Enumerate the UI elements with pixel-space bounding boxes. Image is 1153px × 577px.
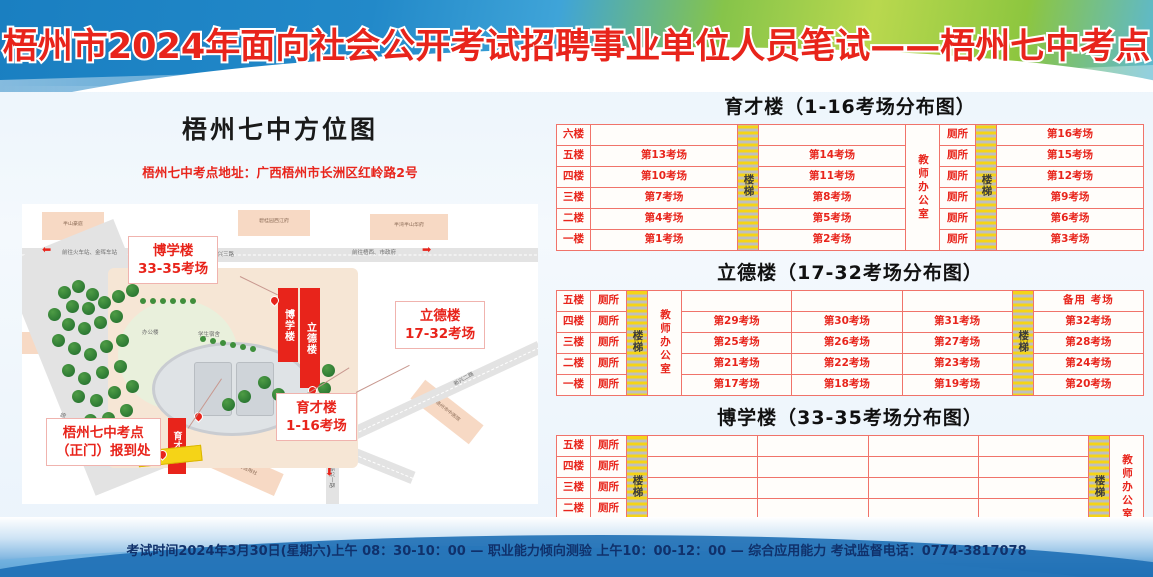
table-row: 三楼 第7考场 第8考场 厕所 第9考场 <box>557 188 1144 209</box>
teacher-office-cell: 教师办公室 <box>906 125 940 251</box>
floor-cell: 四楼 <box>557 312 591 333</box>
page-title: 梧州市2024年面向社会公开考试招聘事业单位人员笔试——梧州七中考点 <box>0 18 1153 69</box>
floor-cell: 五楼 <box>557 146 591 167</box>
room-cell <box>758 457 868 478</box>
room-cell: 第9考场 <box>997 188 1144 209</box>
room-cell <box>978 457 1088 478</box>
teacher-office-cell: 教师办公室 <box>648 291 682 396</box>
stair-cell-right: 楼梯 <box>1012 291 1033 396</box>
floor-cell: 四楼 <box>557 167 591 188</box>
stair-label: 楼梯 <box>1017 330 1028 353</box>
floor-cell: 三楼 <box>557 478 591 499</box>
room-cell: 第16考场 <box>997 125 1144 146</box>
table-row: 六楼 楼梯 教师办公室 厕所 楼梯 第16考场 <box>557 125 1144 146</box>
arrow-down-icon: ➡ <box>324 467 335 476</box>
stair-label: 楼梯 <box>631 475 642 498</box>
toilet-cell: 厕所 <box>940 167 976 188</box>
room-cell <box>648 436 758 457</box>
room-cell: 第24考场 <box>1033 354 1143 375</box>
callout-line1: 立德楼 <box>405 307 475 325</box>
room-cell: 第11考场 <box>759 167 906 188</box>
toilet-cell: 厕所 <box>591 312 627 333</box>
table-row: 五楼 厕所 楼梯 教师办公室 楼梯 备用 考场 <box>557 291 1144 312</box>
room-cell <box>759 125 906 146</box>
stair-cell-left: 楼梯 <box>627 291 648 396</box>
room-cell: 第23考场 <box>902 354 1012 375</box>
stair-label: 楼梯 <box>980 174 991 197</box>
toilet-cell: 厕所 <box>591 354 627 375</box>
direction-label-west: 前往火车站、金晖车站 <box>62 248 117 256</box>
room-cell <box>591 125 738 146</box>
room-cell: 第15考场 <box>997 146 1144 167</box>
callout-line1: 博学楼 <box>138 242 208 260</box>
floor-cell: 三楼 <box>557 333 591 354</box>
callout-line2: 1-16考场 <box>286 417 347 435</box>
floor-cell: 四楼 <box>557 457 591 478</box>
room-cell: 第20考场 <box>1033 375 1143 396</box>
callout-line1: 梧州七中考点 <box>56 424 151 442</box>
poi-label-office: 办公楼 <box>142 328 159 336</box>
floor-cell: 三楼 <box>557 188 591 209</box>
map-heading: 梧州七中方位图 <box>18 110 542 146</box>
footer-exam-info: 考试时间2024年3月30日(星期六)上午 08：30-10：00 — 职业能力… <box>0 540 1153 559</box>
floor-cell: 二楼 <box>557 354 591 375</box>
map-address: 梧州七中考点地址：广西梧州市长洲区红岭路2号 <box>18 162 542 181</box>
room-cell: 第32考场 <box>1033 312 1143 333</box>
room-cell <box>978 436 1088 457</box>
room-cell <box>682 291 792 312</box>
callout-gate[interactable]: 梧州七中考点 （正门）报到处 <box>46 418 161 466</box>
room-cell: 第19考场 <box>902 375 1012 396</box>
room-cell: 第27考场 <box>902 333 1012 354</box>
table-row: 二楼 第4考场 第5考场 厕所 第6考场 <box>557 209 1144 230</box>
room-cell: 第6考场 <box>997 209 1144 230</box>
table-row: 四楼 第10考场 第11考场 厕所 第12考场 <box>557 167 1144 188</box>
room-cell: 第22考场 <box>792 354 902 375</box>
yucai-building-table: 六楼 楼梯 教师办公室 厕所 楼梯 第16考场 五楼 第13考场 第14考场 厕… <box>556 124 1144 251</box>
callout-line2: 33-35考场 <box>138 260 208 278</box>
table-row: 五楼 厕所 楼梯 楼梯 教师办公室 <box>557 436 1144 457</box>
toilet-cell: 厕所 <box>940 188 976 209</box>
floor-cell: 五楼 <box>557 436 591 457</box>
room-cell: 第1考场 <box>591 230 738 251</box>
building-lide: 立德楼 <box>300 288 320 388</box>
stair-label: 楼梯 <box>1093 475 1104 498</box>
floor-cell: 一楼 <box>557 230 591 251</box>
room-cell: 第13考场 <box>591 146 738 167</box>
room-cell: 第12考场 <box>997 167 1144 188</box>
toilet-cell: 厕所 <box>591 375 627 396</box>
callout-line1: 育才楼 <box>286 399 347 417</box>
room-cell <box>868 478 978 499</box>
poi-label: 半湾半山华府 <box>370 222 448 228</box>
lide-table-title: 立德楼（17-32考场分布图） <box>552 258 1148 285</box>
callout-yucai[interactable]: 育才楼 1-16考场 <box>276 393 357 441</box>
lide-building-section: 立德楼（17-32考场分布图） 五楼 厕所 楼梯 教师办公室 楼梯 备用 考场 <box>552 258 1148 396</box>
room-cell: 第21考场 <box>682 354 792 375</box>
room-cell <box>792 291 902 312</box>
callout-line2: 17-32考场 <box>405 325 475 343</box>
toilet-cell: 厕所 <box>591 436 627 457</box>
room-cell: 第29考场 <box>682 312 792 333</box>
seating-tables: 育才楼（1-16考场分布图） 六楼 楼梯 教师办公室 厕所 楼梯 第16考场 五… <box>552 92 1148 532</box>
room-cell: 第8考场 <box>759 188 906 209</box>
room-cell: 第28考场 <box>1033 333 1143 354</box>
toilet-cell: 厕所 <box>940 146 976 167</box>
room-cell: 第18考场 <box>792 375 902 396</box>
room-cell: 第30考场 <box>792 312 902 333</box>
toilet-cell: 厕所 <box>940 209 976 230</box>
arrow-right-icon: ➡ <box>422 244 431 255</box>
room-cell <box>978 478 1088 499</box>
direction-label-east: 前往梧西、市政府 <box>352 248 396 256</box>
callout-line2: （正门）报到处 <box>56 442 151 460</box>
room-cell <box>648 457 758 478</box>
lide-building-table: 五楼 厕所 楼梯 教师办公室 楼梯 备用 考场 四楼 厕所 第29考场 <box>556 290 1144 396</box>
toilet-cell: 厕所 <box>591 457 627 478</box>
poi-block-biguiyuan: 碧桂园西江府 <box>238 210 310 236</box>
room-cell: 第7考场 <box>591 188 738 209</box>
floor-cell: 六楼 <box>557 125 591 146</box>
room-cell: 第2考场 <box>759 230 906 251</box>
poi-label: 碧桂园西江府 <box>238 218 310 224</box>
callout-lide[interactable]: 立德楼 17-32考场 <box>395 301 485 349</box>
room-cell: 第17考场 <box>682 375 792 396</box>
room-cell: 第31考场 <box>902 312 1012 333</box>
arrow-left-icon: ⬅ <box>42 244 51 255</box>
toilet-cell: 厕所 <box>591 333 627 354</box>
table-row: 一楼 第1考场 第2考场 厕所 第3考场 <box>557 230 1144 251</box>
room-cell <box>868 457 978 478</box>
poi-block-banwan: 半湾半山华府 <box>370 214 448 240</box>
room-cell: 第25考场 <box>682 333 792 354</box>
yucai-building-section: 育才楼（1-16考场分布图） 六楼 楼梯 教师办公室 厕所 楼梯 第16考场 五… <box>552 92 1148 251</box>
room-cell <box>648 478 758 499</box>
room-cell <box>868 436 978 457</box>
stair-cell-right: 楼梯 <box>976 125 997 251</box>
room-cell: 第5考场 <box>759 209 906 230</box>
room-cell: 第14考场 <box>759 146 906 167</box>
floor-cell: 一楼 <box>557 375 591 396</box>
boxue-table-title: 博学楼（33-35考场分布图） <box>552 403 1148 430</box>
building-boxue: 博学楼 <box>278 288 298 362</box>
yucai-table-title: 育才楼（1-16考场分布图） <box>552 92 1148 119</box>
room-cell: 第10考场 <box>591 167 738 188</box>
stair-label: 楼梯 <box>742 174 753 197</box>
spare-room-cell: 备用 考场 <box>1033 291 1143 312</box>
stair-label: 楼梯 <box>631 330 642 353</box>
room-cell <box>902 291 1012 312</box>
stair-cell-left: 楼梯 <box>738 125 759 251</box>
sports-field-right <box>236 362 274 416</box>
floor-cell: 二楼 <box>557 209 591 230</box>
room-cell: 第4考场 <box>591 209 738 230</box>
room-cell <box>758 436 868 457</box>
floor-cell: 五楼 <box>557 291 591 312</box>
toilet-cell: 厕所 <box>591 291 627 312</box>
room-cell <box>758 478 868 499</box>
map-panel: 梧州七中方位图 梧州七中考点地址：广西梧州市长洲区红岭路2号 半山豪庭 碧桂园西… <box>18 96 542 516</box>
room-cell: 第3考场 <box>997 230 1144 251</box>
toilet-cell: 厕所 <box>591 478 627 499</box>
table-row: 五楼 第13考场 第14考场 厕所 第15考场 <box>557 146 1144 167</box>
callout-boxue[interactable]: 博学楼 33-35考场 <box>128 236 218 284</box>
toilet-cell: 厕所 <box>940 230 976 251</box>
room-cell: 第26考场 <box>792 333 902 354</box>
poster-root: 梧州市2024年面向社会公开考试招聘事业单位人员笔试——梧州七中考点 梧州七中方… <box>0 0 1153 577</box>
toilet-cell: 厕所 <box>940 125 976 146</box>
